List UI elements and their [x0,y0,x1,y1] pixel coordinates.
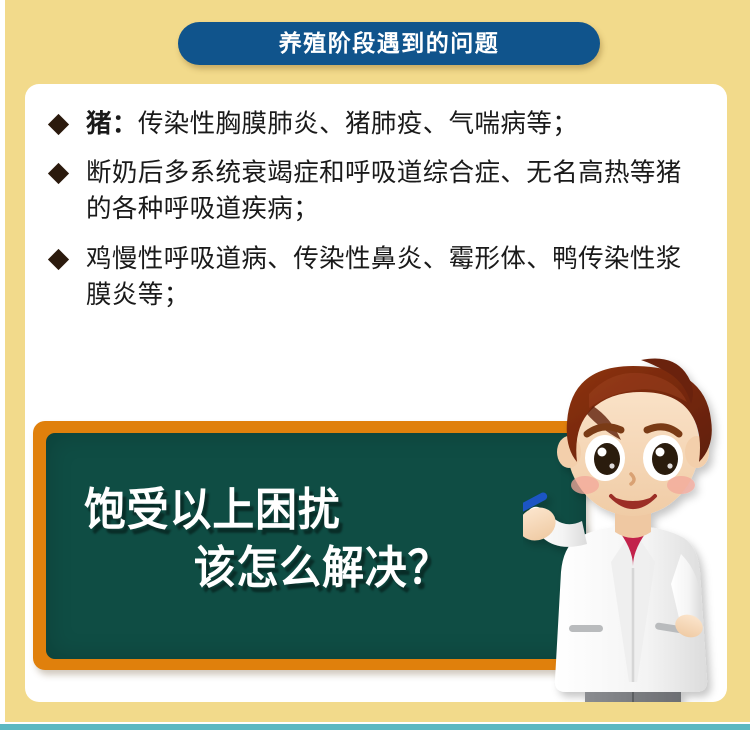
list-item-body: 传染性胸膜肺炎、猪肺疫、气喘病等； [138,110,578,138]
blackboard-line-2: 该怎么解决？ [84,539,521,597]
poster-page: 养殖阶段遇到的问题 猪：传染性胸膜肺炎、猪肺疫、气喘病等； 断奶后多系统衰竭症和… [0,0,750,730]
header-band: 养殖阶段遇到的问题 [5,0,750,84]
list-item: 断奶后多系统衰竭症和呼吸道综合症、无名高热等猪的各种呼吸道疾病； [51,155,709,227]
header-title-pill: 养殖阶段遇到的问题 [178,22,600,65]
blackboard-line-1: 饱受以上困扰 [84,481,521,539]
cartoon-doctor-illustration [523,342,727,702]
list-item: 猪：传染性胸膜肺炎、猪肺疫、气喘病等； [51,106,709,142]
list-item-text: 断奶后多系统衰竭症和呼吸道综合症、无名高热等猪的各种呼吸道疾病； [86,155,686,227]
doctor-figure [523,359,712,703]
content-card: 猪：传染性胸膜肺炎、猪肺疫、气喘病等； 断奶后多系统衰竭症和呼吸道综合症、无名高… [25,84,727,702]
eye-left [585,435,625,481]
list-item-text: 猪：传染性胸膜肺炎、猪肺疫、气喘病等； [86,106,578,142]
bottom-teal-strip [0,724,750,730]
list-item-body: 断奶后多系统衰竭症和呼吸道综合症、无名高热等猪的各种呼吸道疾病； [86,159,682,223]
blush-left [571,476,599,494]
diamond-bullet-icon [48,114,69,135]
blackboard-frame: 饱受以上困扰 该怎么解决？ [33,421,586,670]
list-item: 鸡慢性呼吸道病、传染性鼻炎、霉形体、鸭传染性浆膜炎等； [51,241,709,313]
blackboard-surface: 饱受以上困扰 该怎么解决？ [46,433,586,659]
coat-pocket-left [569,625,603,632]
list-item-lead: 猪： [86,110,138,138]
list-item-text: 鸡慢性呼吸道病、传染性鼻炎、霉形体、鸭传染性浆膜炎等； [86,241,686,313]
problem-bullet-list: 猪：传染性胸膜肺炎、猪肺疫、气喘病等； 断奶后多系统衰竭症和呼吸道综合症、无名高… [25,106,727,326]
blackboard-text-block: 饱受以上困扰 该怎么解决？ [84,481,554,596]
diamond-bullet-icon [48,249,69,270]
diamond-bullet-icon [48,163,69,184]
eye-right [643,435,683,481]
blush-right [667,476,695,494]
page-title: 养殖阶段遇到的问题 [279,32,500,55]
list-item-body: 鸡慢性呼吸道病、传染性鼻炎、霉形体、鸭传染性浆膜炎等； [86,245,682,309]
